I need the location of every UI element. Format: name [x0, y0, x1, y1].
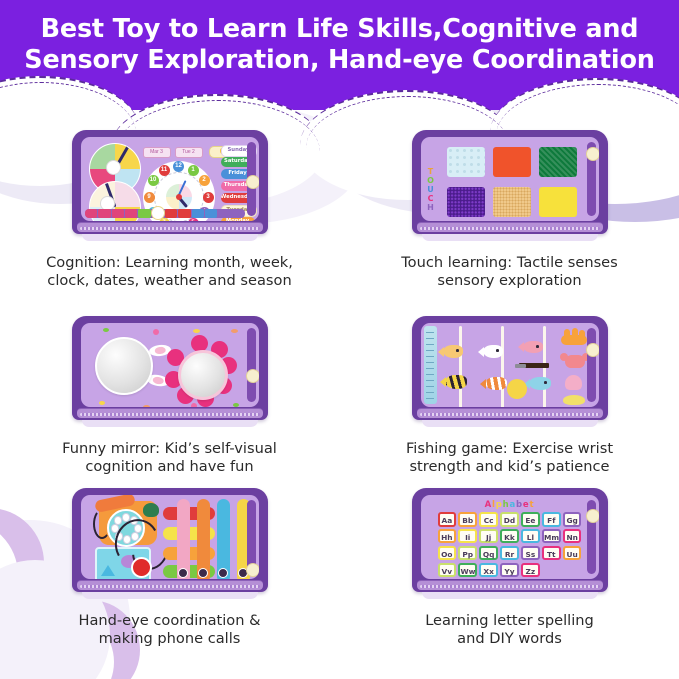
touch-label: T O U C H: [426, 167, 436, 212]
alphabet-card[interactable]: Uu: [563, 546, 582, 561]
zipper-pull[interactable]: [586, 343, 599, 357]
clock-number: 11: [159, 165, 170, 176]
swatch-bubble-texture[interactable]: [447, 147, 485, 177]
touch-board-wrap: T O U C H: [412, 130, 608, 246]
board-shadow: [82, 420, 258, 427]
swatch-smooth-orange[interactable]: [493, 147, 531, 177]
feature-cell-fishing: Fishing game: Exercise wrist strength an…: [340, 316, 679, 503]
month-chip: [85, 209, 97, 218]
cognition-board-surface: Mar 3 Tue 2 12: [81, 137, 259, 221]
month-chip: [125, 209, 137, 218]
alphabet-row: Hh Ii Jj Kk Ll Mm Nn: [431, 529, 589, 544]
flower-mirror[interactable]: [178, 350, 228, 400]
mirror-board-surface: [81, 323, 259, 407]
alphabet-card[interactable]: Xx: [479, 563, 498, 578]
zipper-pull[interactable]: [586, 509, 599, 523]
clock-number: 2: [199, 175, 210, 186]
touch-board-surface: T O U C H: [421, 137, 599, 221]
strap-vertical[interactable]: [177, 499, 190, 579]
fish[interactable]: [483, 345, 503, 358]
alphabet-card[interactable]: Zz: [521, 563, 540, 578]
seaweed-line: [501, 326, 504, 407]
alphabet-board[interactable]: Alphabet Aa Bb Cc Dd Ee Ff Gg: [412, 488, 608, 592]
month-chip: [112, 209, 124, 218]
zipper-track: [587, 328, 596, 402]
alphabet-card[interactable]: Cc: [479, 512, 498, 527]
confetti-dot: [191, 403, 197, 407]
confetti-dot: [143, 405, 150, 407]
feature-cell-cognition: Mar 3 Tue 2 12: [0, 130, 339, 317]
alphabet-row: Oo Pp Qq Rr Ss Tt Uu: [431, 546, 589, 561]
fishing-board[interactable]: [412, 316, 608, 420]
zipper-teeth: [80, 413, 260, 416]
caption-line: Hand-eye coordination &: [10, 612, 329, 630]
measuring-ruler: [424, 326, 437, 404]
zipper-teeth: [80, 227, 260, 230]
fish-tail: [480, 379, 486, 389]
fish-tail: [518, 342, 524, 352]
feature-cell-phone: Hand-eye coordination & making phone cal…: [0, 488, 339, 675]
fish[interactable]: [529, 377, 551, 390]
month-chip: [98, 209, 110, 218]
clock-number: 10: [148, 175, 159, 186]
page-title: Best Toy to Learn Life Skills,Cognitive …: [0, 14, 679, 76]
alphabet-card[interactable]: Gg: [563, 512, 582, 527]
month-chip: [178, 209, 190, 218]
alphabet-card[interactable]: Vv: [438, 563, 457, 578]
date-tag[interactable]: Tue 2: [175, 147, 203, 158]
fish-eye: [536, 345, 539, 348]
board-shadow: [82, 234, 258, 241]
alphabet-card[interactable]: Aa: [438, 512, 457, 527]
feature-cell-alphabet: Alphabet Aa Bb Cc Dd Ee Ff Gg: [340, 488, 679, 675]
rod-magnet: [515, 364, 526, 368]
feature-cell-touch: T O U C H: [340, 130, 679, 317]
alphabet-card[interactable]: Dd: [500, 512, 519, 527]
board-shadow: [82, 592, 258, 599]
alphabet-card[interactable]: Hh: [438, 529, 457, 544]
zipper-teeth: [420, 413, 600, 416]
month-chip: [205, 209, 217, 218]
clock-number: 5: [188, 218, 199, 221]
mirror-board-wrap: [72, 316, 268, 432]
alphabet-title: Alphabet: [421, 500, 599, 510]
alphabet-card[interactable]: Ss: [521, 546, 540, 561]
board-shadow: [422, 420, 598, 427]
swatch-soft-yellow[interactable]: [539, 187, 577, 217]
confetti-dot: [153, 329, 159, 335]
alphabet-card[interactable]: Oo: [438, 546, 457, 561]
fish[interactable]: [443, 345, 463, 358]
fish-tail: [438, 347, 444, 357]
month-tag[interactable]: Mar 3: [143, 147, 171, 158]
month-chip: [218, 209, 230, 218]
fish[interactable]: [485, 377, 507, 390]
touch-board[interactable]: T O U C H: [412, 130, 608, 234]
alphabet-card[interactable]: Ee: [521, 512, 540, 527]
caption-line: making phone calls: [10, 630, 329, 648]
zipper-pull[interactable]: [246, 369, 259, 383]
fish-eye: [496, 349, 499, 352]
alphabet-card[interactable]: Jj: [479, 529, 498, 544]
feature-cell-mirror: Funny mirror: Kid’s self-visual cognitio…: [0, 316, 339, 503]
flower-mirror-group[interactable]: [163, 335, 237, 407]
caption-line: and DIY words: [350, 630, 669, 648]
alphabet-card[interactable]: Tt: [542, 546, 561, 561]
caption-line: Learning letter spelling: [350, 612, 669, 630]
octopus: [565, 375, 582, 390]
confetti-dot: [99, 401, 105, 405]
clock-number: 9: [144, 192, 155, 203]
zipper-teeth: [420, 227, 600, 230]
caption-line: strength and kid’s patience: [350, 458, 669, 476]
month-slider-knob[interactable]: [151, 206, 165, 220]
xray-star: [101, 565, 115, 576]
feature-grid: Mar 3 Tue 2 12: [0, 116, 679, 679]
alphabet-row: Vv Ww Xx Yy Zz: [431, 563, 589, 578]
fish-eye: [456, 349, 459, 352]
fishing-board-wrap: [412, 316, 608, 432]
caption-alphabet: Learning letter spelling and DIY words: [350, 612, 669, 648]
month-chip: [165, 209, 177, 218]
caption-cognition: Cognition: Learning month, week, clock, …: [10, 254, 329, 290]
alphabet-card[interactable]: Pp: [458, 546, 477, 561]
caption-fishing: Fishing game: Exercise wrist strength an…: [350, 440, 669, 476]
alphabet-card[interactable]: Rr: [500, 546, 519, 561]
clock-number: 12: [173, 161, 184, 172]
fish[interactable]: [523, 341, 543, 353]
clock-number: 1: [188, 165, 199, 176]
alphabet-card[interactable]: Mm: [542, 529, 561, 544]
confetti-dot: [231, 329, 238, 333]
crab-claw-left: [560, 353, 568, 361]
fishing-board-surface: [421, 323, 599, 407]
alphabet-card[interactable]: Kk: [500, 529, 519, 544]
zipper-teeth: [420, 585, 600, 588]
confetti-dot: [103, 328, 109, 332]
caption-mirror: Funny mirror: Kid’s self-visual cognitio…: [10, 440, 329, 476]
swatch-beaded-purple[interactable]: [447, 187, 485, 217]
seaweed-line: [459, 326, 462, 407]
zipper-teeth: [80, 585, 260, 588]
phone-board-wrap: [72, 488, 268, 604]
alphabet-card[interactable]: Ll: [521, 529, 540, 544]
zipper-track: [247, 328, 256, 402]
alphabet-card[interactable]: Yy: [500, 563, 519, 578]
zipper-pull[interactable]: [246, 563, 259, 577]
stethoscope-head[interactable]: [131, 557, 152, 578]
strap-vertical[interactable]: [217, 499, 230, 579]
month-chip: [138, 209, 150, 218]
confetti-dot: [233, 403, 239, 407]
caption-line: Funny mirror: Kid’s self-visual: [10, 440, 329, 458]
clock-number: 3: [203, 192, 214, 203]
caption-line: Fishing game: Exercise wrist: [350, 440, 669, 458]
zipper-pull[interactable]: [586, 147, 599, 161]
caption-line: Cognition: Learning month, week,: [10, 254, 329, 272]
fish-tail: [478, 347, 484, 357]
swatch-sandy-tan[interactable]: [493, 187, 531, 217]
alphabet-card[interactable]: Qq: [479, 546, 498, 561]
page-title-line1: Best Toy to Learn Life Skills,Cognitive …: [41, 14, 639, 44]
product-feature-page: Best Toy to Learn Life Skills,Cognitive …: [0, 0, 679, 679]
cognition-board-wrap: Mar 3 Tue 2 12: [72, 130, 268, 246]
phone-dial-handle[interactable]: [143, 503, 159, 517]
alphabet-grid: Aa Bb Cc Dd Ee Ff Gg Hh Ii: [431, 512, 589, 579]
fish-tail: [440, 377, 446, 387]
caption-line: Touch learning: Tactile senses: [350, 254, 669, 272]
alphabet-card[interactable]: Bb: [458, 512, 477, 527]
fish-eye: [544, 381, 547, 384]
caption-line: sensory exploration: [350, 272, 669, 290]
phone-board-surface: [81, 495, 259, 579]
clock-center-pin: [176, 194, 182, 200]
board-shadow: [422, 234, 598, 241]
swatch-woven-green[interactable]: [539, 147, 577, 177]
phone-cord: [93, 509, 111, 539]
caption-line: clock, dates, weather and season: [10, 272, 329, 290]
board-shadow: [422, 592, 598, 599]
month-color-strip[interactable]: [85, 209, 245, 218]
confetti-dot: [193, 329, 200, 333]
seagrass: [563, 395, 585, 405]
alphabet-card[interactable]: Ww: [458, 563, 477, 578]
caption-touch: Touch learning: Tactile senses sensory e…: [350, 254, 669, 290]
month-chip: [232, 209, 244, 218]
wheel-quadrant: [115, 182, 140, 207]
bunny-mirror[interactable]: [95, 337, 153, 395]
coral: [561, 329, 587, 347]
alphabet-card[interactable]: Ff: [542, 512, 561, 527]
strap-vertical[interactable]: [197, 499, 210, 579]
wheel-knob[interactable]: [106, 160, 121, 175]
cognition-board[interactable]: Mar 3 Tue 2 12: [72, 130, 268, 234]
mirror-board[interactable]: [72, 316, 268, 420]
phone-board[interactable]: [72, 488, 268, 592]
alphabet-board-surface: Alphabet Aa Bb Cc Dd Ee Ff Gg: [421, 495, 599, 579]
caption-line: cognition and have fun: [10, 458, 329, 476]
alphabet-card[interactable]: Nn: [563, 529, 582, 544]
alphabet-board-wrap: Alphabet Aa Bb Cc Dd Ee Ff Gg: [412, 488, 608, 604]
month-chip: [192, 209, 204, 218]
fish[interactable]: [445, 375, 467, 389]
crab: [561, 351, 589, 369]
zipper-pull[interactable]: [246, 175, 259, 189]
caption-phone: Hand-eye coordination & making phone cal…: [10, 612, 329, 648]
alphabet-card[interactable]: Ii: [458, 529, 477, 544]
alphabet-row: Aa Bb Cc Dd Ee Ff Gg: [431, 512, 589, 527]
fish-yellow-ball[interactable]: [507, 379, 527, 399]
